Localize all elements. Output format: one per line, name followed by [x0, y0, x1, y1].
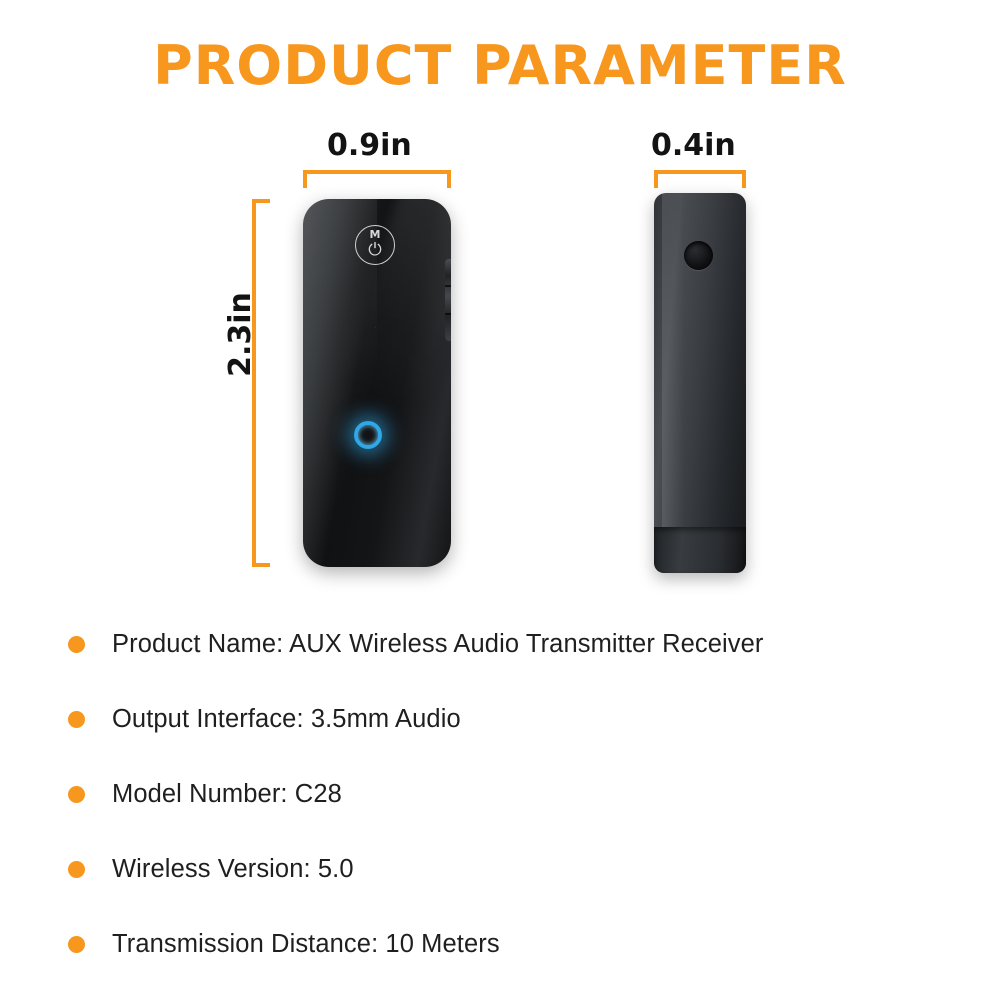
page-title: PRODUCT PARAMETER [0, 34, 1000, 97]
height-label-front-view: 2.3in [223, 292, 258, 377]
list-item: Output Interface: 3.5mm Audio [0, 682, 1000, 757]
list-item: Product Name: AUX Wireless Audio Transmi… [0, 607, 1000, 682]
power-symbol-icon: ⏻ [356, 241, 394, 258]
list-item: Model Number: C28 [0, 757, 1000, 832]
power-button-icon: M ⏻ [355, 225, 395, 265]
width-label-front-view: 0.9in [327, 128, 412, 163]
list-item: Wireless Version: 5.0 [0, 832, 1000, 907]
spec-transmission-distance: Transmission Distance: 10 Meters [112, 930, 500, 959]
spec-wireless-version: Wireless Version: 5.0 [112, 855, 354, 884]
device-front-view: M ⏻ [303, 199, 451, 567]
microphone-hole-icon [373, 325, 377, 329]
led-indicator-icon [354, 421, 382, 449]
power-button-letter: M [356, 229, 394, 240]
side-bottom-clip [654, 527, 746, 573]
device-side-view [654, 193, 746, 573]
spec-list: Product Name: AUX Wireless Audio Transmi… [0, 607, 1000, 982]
bullet-icon [68, 786, 85, 803]
bullet-icon [68, 861, 85, 878]
list-item: Transmission Distance: 10 Meters [0, 907, 1000, 982]
spec-output-interface: Output Interface: 3.5mm Audio [112, 705, 461, 734]
width-label-side-view: 0.4in [651, 128, 736, 163]
volume-keys-icon [445, 259, 451, 341]
spec-product-name: Product Name: AUX Wireless Audio Transmi… [112, 630, 764, 659]
bullet-icon [68, 711, 85, 728]
side-highlight-overlay [662, 193, 684, 573]
spec-model-number: Model Number: C28 [112, 780, 342, 809]
width-bracket-front-view [303, 170, 451, 188]
height-bracket-front-view [252, 199, 270, 567]
bullet-icon [68, 636, 85, 653]
key-divider [445, 285, 451, 287]
bullet-icon [68, 936, 85, 953]
product-image-stage: 0.9in 0.4in 2.3in M ⏻ [0, 110, 1000, 600]
width-bracket-side-view [654, 170, 746, 188]
audio-jack-icon [684, 241, 713, 270]
key-divider [445, 313, 451, 315]
